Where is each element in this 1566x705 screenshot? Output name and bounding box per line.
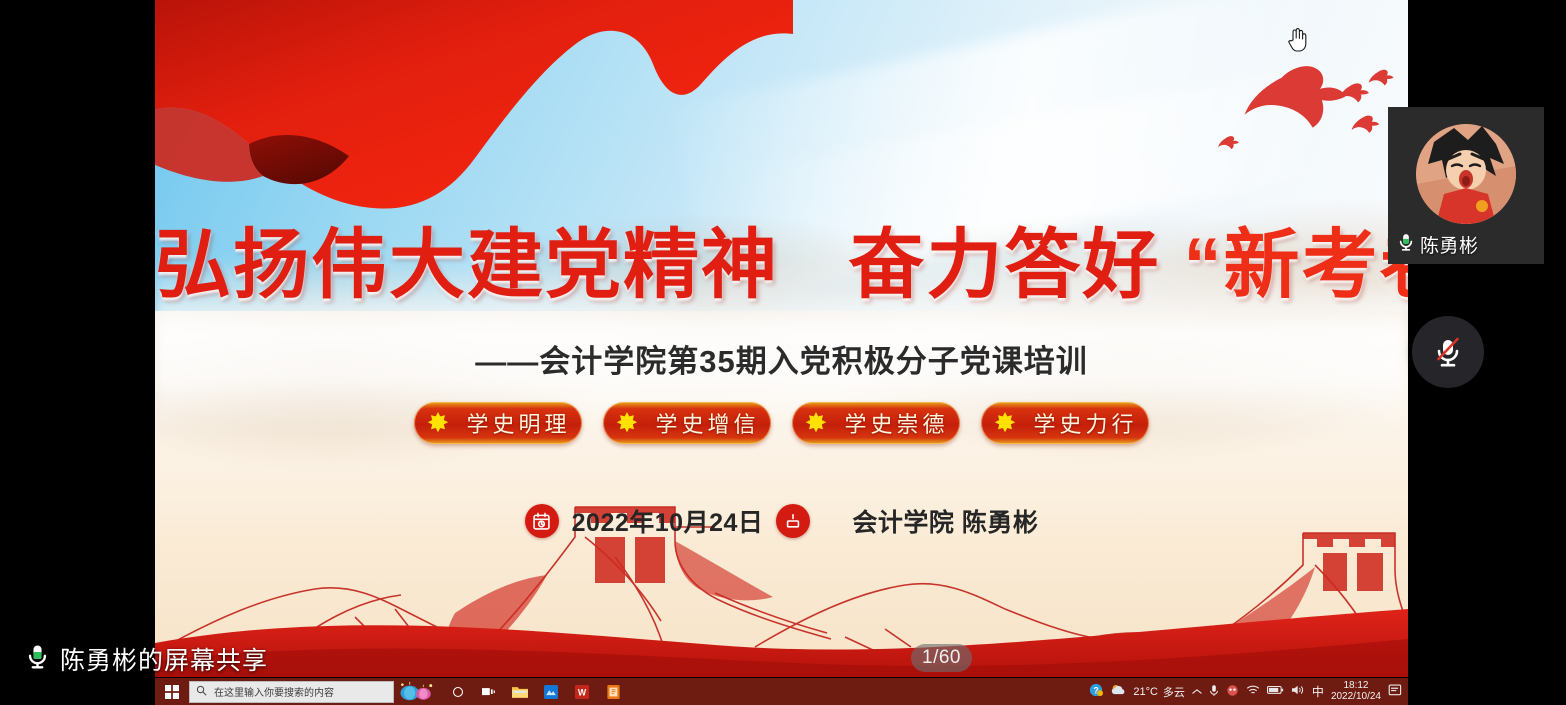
temperature: 21°C <box>1133 686 1158 698</box>
slide-page-counter: 1/60 <box>911 644 972 672</box>
self-video-tile[interactable]: 陈勇彬 <box>1388 107 1544 264</box>
star-icon <box>993 411 1017 435</box>
lantern-icon <box>394 680 440 704</box>
pill-label: 学史增信 <box>650 407 771 439</box>
star-icon <box>804 411 828 435</box>
battery-icon[interactable] <box>1267 685 1284 698</box>
task-view-icon[interactable] <box>475 679 503 704</box>
slide-title-part1: 弘扬伟大建党精神 <box>155 223 779 308</box>
meeting-screen: 弘扬伟大建党精神 奋力答好 “新考卷” ——会计学院第35期入党积极分子党课培训… <box>0 0 1566 705</box>
avatar <box>1416 124 1516 224</box>
system-tray[interactable]: ? 21°C 多云 <box>1089 681 1408 702</box>
pill-label: 学史力行 <box>1028 407 1149 439</box>
svg-text:W: W <box>578 687 587 697</box>
pill-item: 学史明理 <box>414 402 582 444</box>
slide-pill-group: 学史明理 学史增信 学史崇德 学史力行 <box>155 402 1408 444</box>
calendar-icon <box>525 504 559 538</box>
microphone-icon <box>24 643 51 675</box>
taskbar-items[interactable]: W <box>440 679 627 704</box>
search-icon <box>196 683 207 701</box>
action-center-icon[interactable] <box>1388 683 1402 700</box>
pill-item: 学史崇德 <box>792 402 960 444</box>
slide-subtitle: ——会计学院第35期入党积极分子党课培训 <box>155 336 1408 381</box>
question-circle-icon[interactable]: ? <box>1089 683 1103 700</box>
windows-start-icon[interactable] <box>155 678 189 705</box>
weather-widget[interactable]: 21°C 多云 <box>1110 683 1185 701</box>
slide-title-part3: “新考卷” <box>1183 223 1408 308</box>
hand-pointer-cursor-icon <box>1286 26 1308 52</box>
file-explorer-icon[interactable] <box>506 679 534 704</box>
clock[interactable]: 18:12 2022/10/24 <box>1331 681 1381 702</box>
powerpoint-icon[interactable] <box>599 679 627 704</box>
microphone-icon[interactable] <box>1209 684 1219 700</box>
pill-item: 学史力行 <box>981 402 1149 444</box>
podium-icon <box>776 504 810 538</box>
pill-label: 学史崇德 <box>839 407 960 439</box>
weather-text: 多云 <box>1163 684 1185 700</box>
wifi-icon[interactable] <box>1246 684 1260 699</box>
cortana-circle-icon[interactable] <box>444 679 472 704</box>
red-doves-icon <box>1200 46 1408 176</box>
clock-time: 18:12 <box>1343 681 1368 692</box>
slide-meta-row: 2022年10月24日 会计学院 陈勇彬 <box>155 503 1408 539</box>
ime-indicator[interactable]: 中 <box>1312 683 1324 700</box>
volume-icon[interactable] <box>1291 684 1305 699</box>
pill-label: 学史明理 <box>461 407 582 439</box>
self-name-row: 陈勇彬 <box>1396 231 1479 258</box>
slide-title: 弘扬伟大建党精神 奋力答好 “新考卷” <box>155 228 1408 304</box>
star-icon <box>615 411 639 435</box>
microphone-muted-icon[interactable] <box>1412 316 1484 388</box>
windows-taskbar[interactable]: 在这里输入你要搜索的内容 <box>155 678 1408 705</box>
clock-date: 2022/10/24 <box>1331 692 1381 703</box>
red-ribbon-base <box>155 591 1408 677</box>
slide-date: 2022年10月24日 <box>572 503 764 539</box>
chevron-up-icon[interactable] <box>1192 686 1202 698</box>
blue-app-icon[interactable] <box>537 679 565 704</box>
app-tray-icon[interactable] <box>1226 684 1239 700</box>
wps-office-icon[interactable]: W <box>568 679 596 704</box>
slide-presenter: 会计学院 陈勇彬 <box>852 503 1038 539</box>
microphone-icon <box>1396 232 1416 257</box>
slide-title-part2: 奋力答好 <box>848 223 1160 308</box>
pill-item: 学史增信 <box>603 402 771 444</box>
screen-share-label: 陈勇彬的屏幕共享 <box>60 641 268 677</box>
shared-slide[interactable]: 弘扬伟大建党精神 奋力答好 “新考卷” ——会计学院第35期入党积极分子党课培训… <box>155 0 1408 677</box>
screen-share-banner: 陈勇彬的屏幕共享 <box>24 641 268 677</box>
star-icon <box>426 411 450 435</box>
partly-cloudy-icon <box>1110 683 1128 701</box>
self-name: 陈勇彬 <box>1420 231 1479 258</box>
search-placeholder: 在这里输入你要搜索的内容 <box>214 684 334 699</box>
waving-red-flag-icon <box>155 0 793 218</box>
search-input[interactable]: 在这里输入你要搜索的内容 <box>189 681 394 703</box>
